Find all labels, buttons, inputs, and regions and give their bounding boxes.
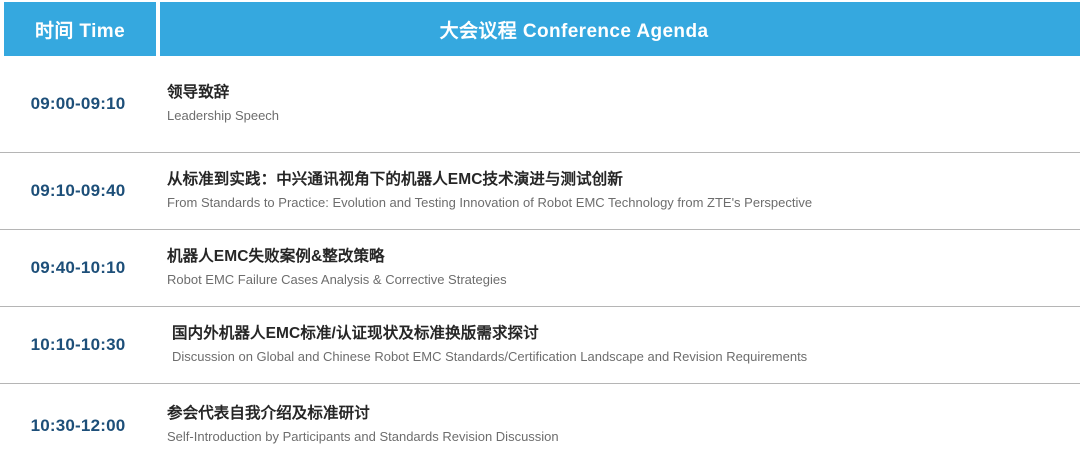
header-cell-agenda: 大会议程 Conference Agenda (160, 2, 1080, 56)
row-title-cn: 参会代表自我介绍及标准研讨 (167, 404, 1060, 425)
row-time-cell: 09:00-09:10 (0, 94, 152, 114)
table-row: 09:00-09:10 领导致辞 Leadership Speech (0, 56, 1080, 152)
row-time-cell: 10:10-10:30 (0, 335, 152, 355)
row-time-value: 09:10-09:40 (31, 181, 126, 201)
row-title-en: Self-Introduction by Participants and St… (167, 427, 1060, 447)
row-content-cell: 机器人EMC失败案例&整改策略 Robot EMC Failure Cases … (152, 247, 1080, 289)
row-title-en: From Standards to Practice: Evolution an… (167, 193, 1060, 213)
row-title-en: Discussion on Global and Chinese Robot E… (172, 347, 1060, 367)
row-title-cn: 国内外机器人EMC标准/认证现状及标准换版需求探讨 (172, 324, 1060, 345)
row-time-value: 10:10-10:30 (31, 335, 126, 355)
conference-agenda-table: 时间 Time 大会议程 Conference Agenda 09:00-09:… (0, 0, 1080, 467)
row-time-cell: 09:40-10:10 (0, 258, 152, 278)
row-time-cell: 10:30-12:00 (0, 416, 152, 436)
header-label-time: 时间 Time (35, 16, 125, 43)
row-title-en: Robot EMC Failure Cases Analysis & Corre… (167, 270, 1060, 290)
row-title-cn: 从标准到实践：中兴通讯视角下的机器人EMC技术演进与测试创新 (167, 170, 1060, 191)
table-row: 09:40-10:10 机器人EMC失败案例&整改策略 Robot EMC Fa… (0, 229, 1080, 306)
row-content-cell: 参会代表自我介绍及标准研讨 Self-Introduction by Parti… (152, 404, 1080, 446)
agenda-table-header: 时间 Time 大会议程 Conference Agenda (4, 2, 1080, 56)
row-content-cell: 领导致辞 Leadership Speech (152, 83, 1080, 125)
table-row: 10:30-12:00 参会代表自我介绍及标准研讨 Self-Introduct… (0, 383, 1080, 467)
row-time-value: 10:30-12:00 (31, 416, 126, 436)
row-title-cn: 机器人EMC失败案例&整改策略 (167, 247, 1060, 268)
table-row: 09:10-09:40 从标准到实践：中兴通讯视角下的机器人EMC技术演进与测试… (0, 152, 1080, 229)
header-cell-time: 时间 Time (4, 2, 156, 56)
agenda-table-body: 09:00-09:10 领导致辞 Leadership Speech 09:10… (0, 56, 1080, 467)
row-title-cn: 领导致辞 (167, 83, 1060, 104)
row-time-value: 09:40-10:10 (31, 258, 126, 278)
row-time-cell: 09:10-09:40 (0, 181, 152, 201)
row-content-cell: 国内外机器人EMC标准/认证现状及标准换版需求探讨 Discussion on … (152, 324, 1080, 366)
row-time-value: 09:00-09:10 (31, 94, 126, 114)
row-title-en: Leadership Speech (167, 106, 1060, 126)
header-label-agenda: 大会议程 Conference Agenda (440, 16, 709, 43)
table-row: 10:10-10:30 国内外机器人EMC标准/认证现状及标准换版需求探讨 Di… (0, 306, 1080, 383)
row-content-cell: 从标准到实践：中兴通讯视角下的机器人EMC技术演进与测试创新 From Stan… (152, 170, 1080, 212)
